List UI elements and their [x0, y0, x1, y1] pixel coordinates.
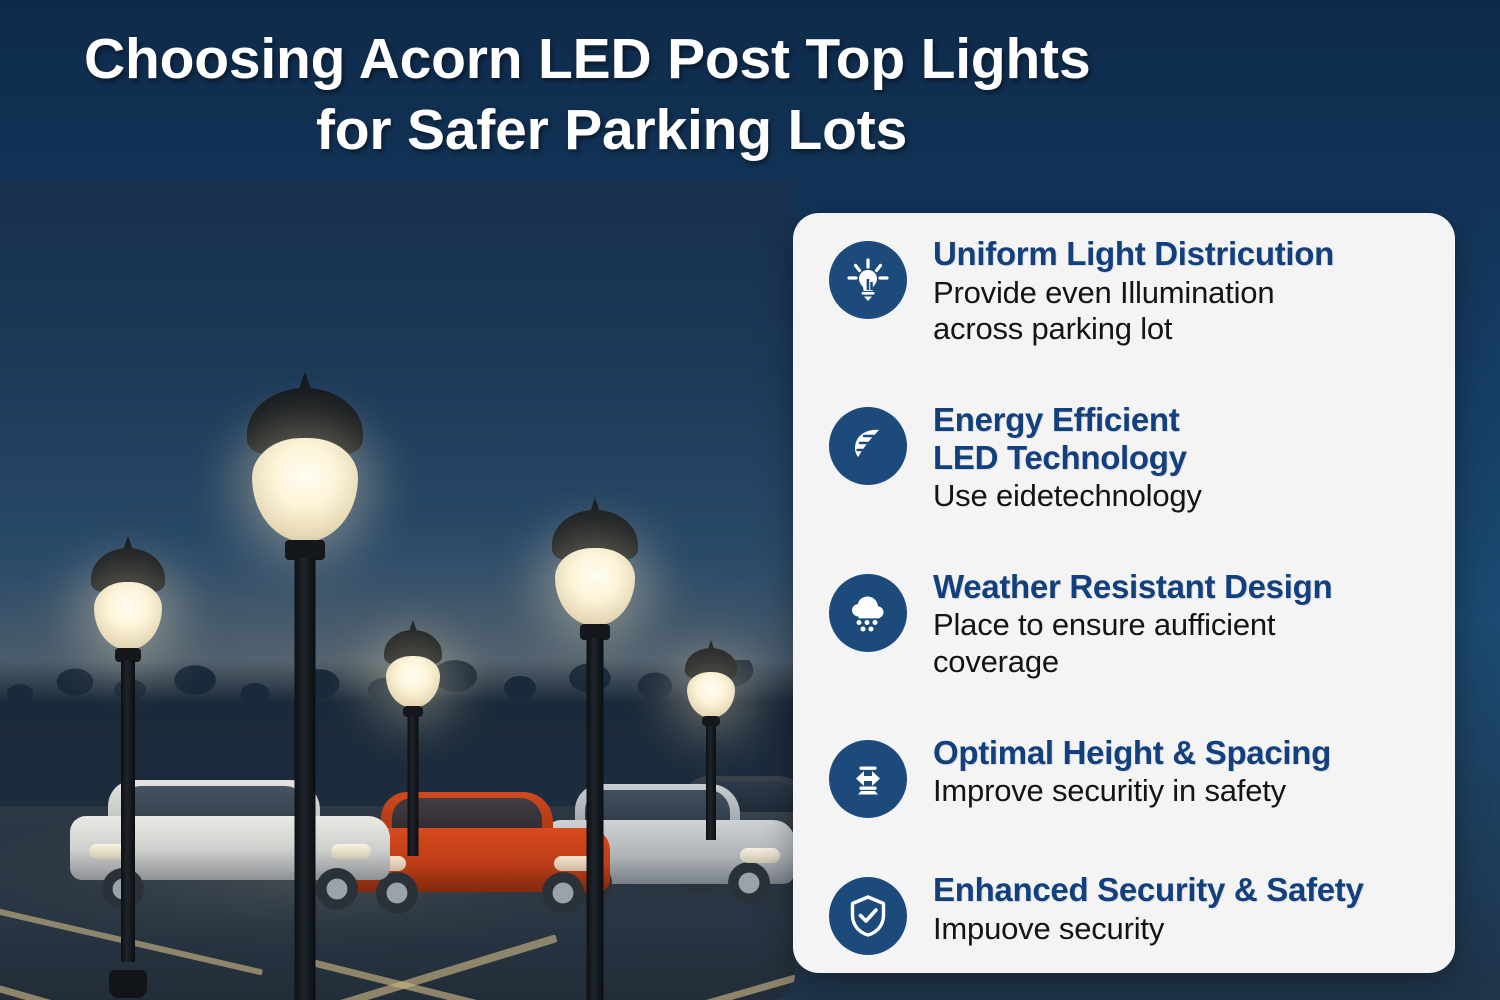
feature-description: Impuove security [933, 911, 1364, 948]
parking-lot-photo [0, 180, 795, 1000]
feature-title: Energy Efficient LED Technology [933, 401, 1202, 476]
lightbulb-icon [829, 241, 907, 319]
double-arrow-icon [829, 740, 907, 818]
lamp-post-left [85, 536, 171, 998]
leaf-icon [829, 407, 907, 485]
feature-title: Weather Resistant Design [933, 568, 1332, 606]
feature-description: Improve securitiy in safety [933, 773, 1331, 810]
feature-description: Use eidetechnology [933, 478, 1202, 515]
feature-item-enhanced-security[interactable]: Enhanced Security & Safety Impuove secur… [829, 871, 1429, 955]
feature-description: Provide even Illumination across parking… [933, 275, 1334, 348]
lamp-post-mid [378, 620, 448, 856]
rain-cloud-icon [829, 574, 907, 652]
feature-list-panel: Uniform Light Districution Provide even … [793, 213, 1455, 973]
lamp-post-tall-right [545, 498, 645, 1000]
title-line-2: for Safer Parking Lots [84, 95, 1264, 166]
feature-title: Optimal Height & Spacing [933, 734, 1331, 772]
feature-title: Uniform Light Districution [933, 235, 1334, 273]
feature-description: Place to ensure aufficient coverage [933, 607, 1332, 680]
feature-item-energy-efficient[interactable]: Energy Efficient LED Technology Use eide… [829, 401, 1429, 515]
lamp-post-far-right [680, 640, 742, 840]
title-line-1: Choosing Acorn LED Post Top Lights [84, 27, 1090, 91]
feature-title: Enhanced Security & Safety [933, 871, 1364, 909]
feature-item-uniform-light[interactable]: Uniform Light Districution Provide even … [829, 235, 1429, 348]
feature-item-weather-resistant[interactable]: Weather Resistant Design Place to ensure… [829, 568, 1429, 681]
feature-item-optimal-height[interactable]: Optimal Height & Spacing Improve securit… [829, 734, 1429, 818]
shield-check-icon [829, 877, 907, 955]
lamp-post-main [240, 372, 370, 1000]
page-title: Choosing Acorn LED Post Top Lights for S… [84, 24, 1264, 165]
infographic-canvas: Choosing Acorn LED Post Top Lights for S… [0, 0, 1500, 1000]
